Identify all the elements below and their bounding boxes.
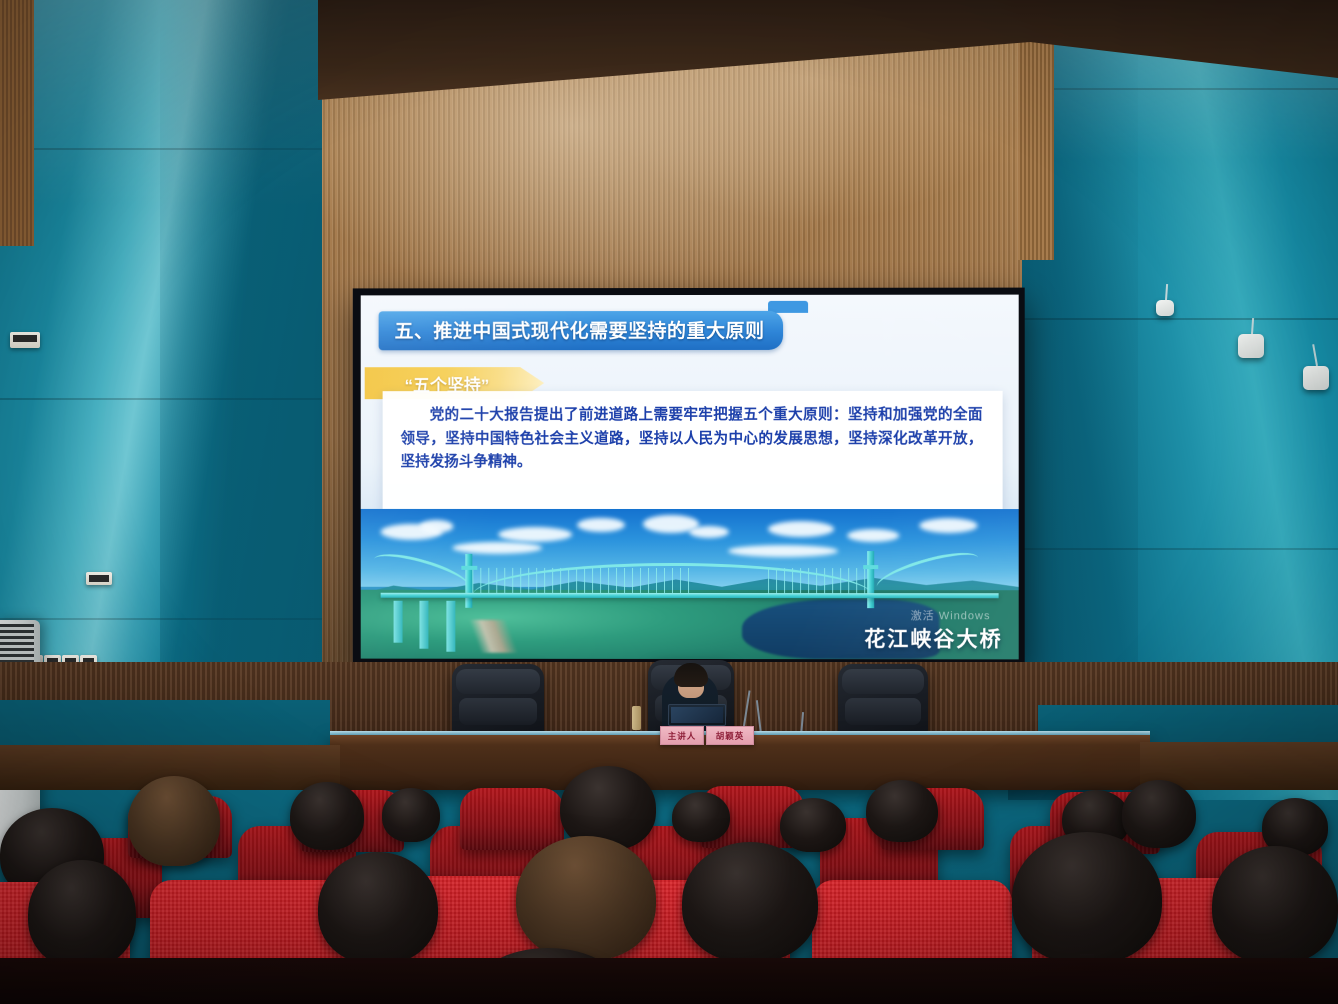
bridge-tower-crossbeam: [863, 565, 879, 569]
cloud-shape: [920, 518, 978, 533]
foreground-shadow: [0, 958, 1338, 1004]
audience-head: [1012, 832, 1162, 964]
left-wood-trim: [0, 0, 34, 246]
audience-head: [382, 788, 440, 842]
audience-head: [780, 798, 846, 852]
led-display-screen: 五、推进中国式现代化需要坚持的重大原则 “五个坚持” 党的二十大报告提出了前进道…: [353, 288, 1025, 667]
audience-head: [866, 780, 938, 842]
cloud-shape: [768, 521, 834, 537]
cloud-shape: [728, 545, 838, 557]
audience-head: [290, 782, 364, 850]
audience-head: [682, 842, 818, 962]
audience-head: [318, 852, 438, 964]
slide-title-text: 五、推进中国式现代化需要坚持的重大原则: [395, 321, 765, 342]
audience-head: [28, 860, 136, 968]
nameplate-name-text: 胡颖英: [716, 730, 745, 742]
presenter-laptop[interactable]: [668, 704, 726, 726]
cloud-shape: [452, 542, 542, 554]
cloud-shape: [420, 519, 454, 532]
bridge-pier: [420, 600, 429, 648]
wireless-access-point-icon: [1156, 300, 1174, 316]
cloud-shape: [577, 518, 625, 532]
audience-head: [128, 776, 220, 866]
audience-head: [1122, 780, 1196, 848]
slide-body-card: 党的二十大报告提出了前进道路上需要牢牢把握五个重大原则：坚持和加强党的全面领导，…: [383, 391, 1003, 511]
cloud-shape: [689, 526, 729, 538]
slide-body-text: 党的二十大报告提出了前进道路上需要牢牢把握五个重大原则：坚持和加强党的全面领导，…: [401, 404, 983, 475]
slide-bridge-photo: 激活 Windows 花江峡谷大桥: [361, 509, 1019, 659]
cloud-shape: [498, 527, 572, 542]
nameplate-role-text: 主讲人: [668, 730, 697, 742]
bridge-tower-right: [867, 551, 874, 608]
nameplate-role: 主讲人: [660, 726, 704, 745]
wireless-access-point-icon: [1238, 334, 1264, 358]
slide-title-bar: 五、推进中国式现代化需要坚持的重大原则: [379, 311, 783, 350]
bridge-deck: [380, 593, 998, 598]
audience-head: [516, 836, 656, 960]
audience-head: [672, 792, 730, 842]
wall-switch-plate[interactable]: [10, 332, 40, 348]
auditorium-scene: 五、推进中国式现代化需要坚持的重大原则 “五个坚持” 党的二十大报告提出了前进道…: [0, 0, 1338, 1004]
bridge-pier: [393, 600, 402, 642]
photo-caption-text: 花江峡谷大桥: [864, 623, 1002, 653]
slide-surface: 五、推进中国式现代化需要坚持的重大原则 “五个坚持” 党的二十大报告提出了前进道…: [361, 295, 1019, 660]
bridge-tower-crossbeam: [462, 566, 478, 570]
cloud-shape: [847, 529, 899, 542]
nameplate-name: 胡颖英: [706, 726, 754, 745]
bridge-tower-left: [466, 554, 473, 608]
presenter-hair: [674, 663, 708, 687]
audience-head: [1212, 846, 1338, 964]
wall-switch-plate[interactable]: [86, 572, 112, 585]
water-bottle: [632, 706, 641, 730]
audience-seat: [460, 788, 564, 850]
bridge-pier: [446, 600, 455, 651]
windows-activation-watermark: 激活 Windows: [911, 607, 991, 623]
wireless-access-point-icon: [1303, 366, 1329, 390]
